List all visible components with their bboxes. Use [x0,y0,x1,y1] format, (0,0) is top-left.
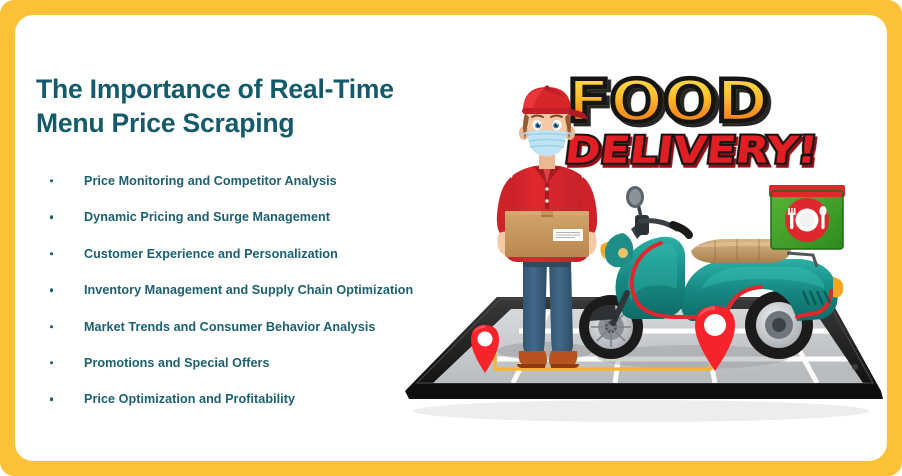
cap-brim [569,109,587,119]
bullet-dot-icon [50,325,53,328]
list-item-label: Price Monitoring and Competitor Analysis [84,174,337,188]
list-item-label: Inventory Management and Supply Chain Op… [84,283,413,297]
content-panel: The Importance of Real-Time Menu Price S… [15,15,887,461]
tablet-shadow [413,400,869,422]
scooter-grip [673,225,689,235]
bullet-dot-icon [50,398,53,401]
scooter-indicator [618,248,628,258]
bullet-dot-icon [50,361,53,364]
plate-fork-spoon-icon [785,198,829,242]
list-item-label: Market Trends and Consumer Behavior Anal… [84,320,375,334]
list-item-label: Promotions and Special Offers [84,356,270,370]
dropoff-pin [691,302,739,372]
list-item-label: Customer Experience and Personalization [84,247,338,261]
scooter-tail-light [833,277,843,297]
courier-head [519,85,587,157]
food-delivery-illustration: FOOD DELIVERY! [385,15,887,461]
list-item-label: Price Optimization and Profitability [84,392,295,406]
face-mask-icon [521,130,573,156]
delivery-box [769,185,845,249]
list-item-label: Dynamic Pricing and Surge Management [84,210,330,224]
courier-cap [522,85,587,119]
bullet-dot-icon [50,252,53,255]
infographic-banner: The Importance of Real-Time Menu Price S… [0,0,902,476]
bullet-dot-icon [50,216,53,219]
tablet-camera-icon [852,364,858,370]
bullet-dot-icon [50,179,53,182]
pickup-pin [468,322,502,374]
courier-neck [539,155,555,169]
bullet-dot-icon [50,288,53,291]
